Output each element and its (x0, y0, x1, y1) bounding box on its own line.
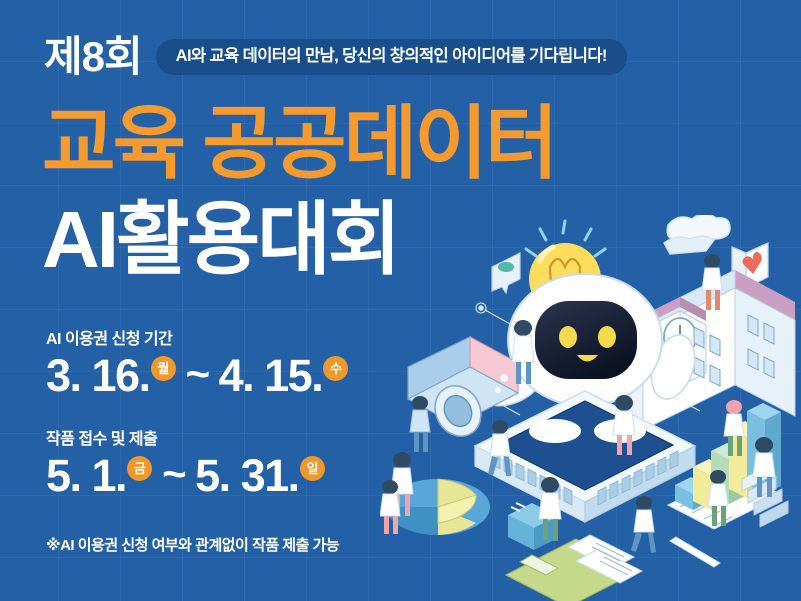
start-day-badge: 금 (127, 456, 152, 481)
speech-bubble-icon (492, 253, 520, 293)
person-figure (380, 480, 400, 534)
tagline-banner: AI와 교육 데이터의 만남, 당신의 창의적인 아이디어를 기다립니다! (156, 39, 627, 74)
end-date: 5. 31. (195, 453, 299, 498)
end-day-badge: 일 (300, 456, 325, 481)
title-line-one: 교육 공공데이터 (42, 104, 555, 184)
schedule-dates: 5. 1. 금 ~ 5. 31. 일 (46, 453, 325, 498)
start-day-badge: 월 (151, 356, 176, 381)
chip-pad-left (529, 419, 581, 443)
robot-face-screen (535, 301, 637, 379)
start-date-group: 5. 1. 금 (46, 453, 152, 498)
person-figure (410, 396, 430, 452)
start-date-group: 3. 16. 월 (46, 353, 176, 398)
end-date: 4. 15. (219, 353, 323, 398)
poster-header: 제8회 AI와 교육 데이터의 만남, 당신의 창의적인 아이디어를 기다립니다… (44, 36, 627, 78)
date-separator: ~ (162, 453, 185, 495)
schedule-label: AI 이용권 신청 기간 (46, 330, 348, 349)
cloud-icon (664, 215, 730, 254)
robot-eye-right (598, 326, 616, 348)
schedule-block-application: AI 이용권 신청 기간 3. 16. 월 ~ 4. 15. 수 (46, 330, 348, 398)
start-date: 3. 16. (46, 353, 150, 398)
edition-number: 제8회 (44, 36, 142, 78)
pencil-icon (670, 537, 720, 567)
illustration-artwork (380, 215, 801, 601)
end-date-group: 5. 31. 일 (195, 453, 325, 498)
schedule-label: 작품 접수 및 제출 (46, 430, 325, 449)
end-day-badge: 수 (323, 356, 348, 381)
footnote-text: ※AI 이용권 신청 여부와 관계없이 작품 제출 가능 (46, 534, 339, 555)
title-line-two: AI활용대회 (42, 200, 398, 280)
person-figure (631, 496, 656, 553)
schedule-block-submission: 작품 접수 및 제출 5. 1. 금 ~ 5. 31. 일 (46, 430, 325, 498)
schedule-dates: 3. 16. 월 ~ 4. 15. 수 (46, 353, 348, 398)
robot-eye-left (559, 326, 577, 348)
poster-canvas: 제8회 AI와 교육 데이터의 만남, 당신의 창의적인 아이디어를 기다립니다… (0, 0, 801, 601)
date-separator: ~ (186, 353, 209, 395)
start-date: 5. 1. (46, 453, 126, 498)
end-date-group: 4. 15. 수 (219, 353, 349, 398)
